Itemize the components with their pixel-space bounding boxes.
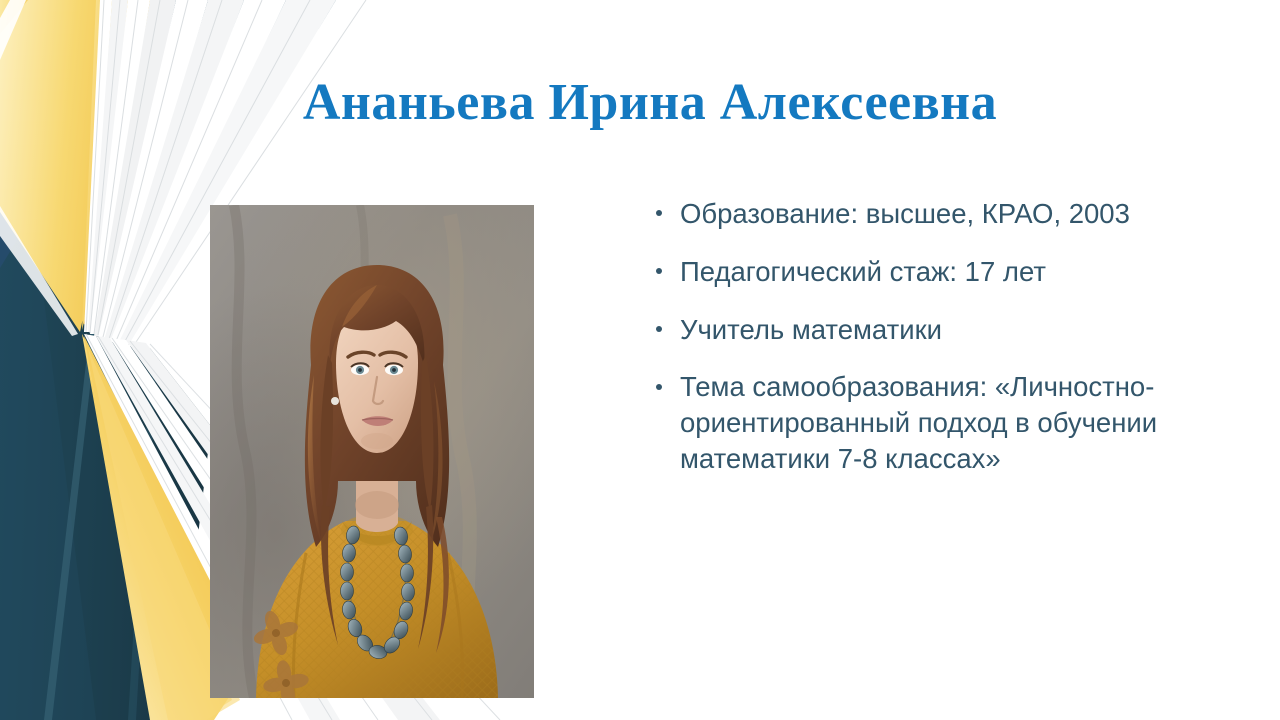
- list-item-text: Образование: высшее, КРАО, 2003: [680, 196, 1208, 232]
- list-item: Учитель математики: [648, 312, 1208, 348]
- list-item-text: Педагогический стаж: 17 лет: [680, 254, 1208, 290]
- bullet-dot-icon: [656, 384, 662, 390]
- deco-gold-wedge-bright: [0, 0, 150, 332]
- deco-navy-band: [0, 0, 140, 720]
- deco-white-sliver-1: [0, 0, 26, 60]
- deco-teal-highlight: [44, 160, 116, 720]
- deco-header-lines: [84, 0, 202, 58]
- slide-title: Ананьева Ирина Алексеевна: [120, 74, 1180, 132]
- bullet-dot-icon: [656, 268, 662, 274]
- deco-gold-wedge-main: [0, 0, 88, 330]
- list-item-text: Учитель математики: [680, 312, 1208, 348]
- profile-bullet-list: Образование: высшее, КРАО, 2003 Педагоги…: [648, 196, 1208, 477]
- list-item: Педагогический стаж: 17 лет: [648, 254, 1208, 290]
- list-item-text: Тема самообразования: «Личностно-ориенти…: [680, 369, 1208, 476]
- list-item: Образование: высшее, КРАО, 2003: [648, 196, 1208, 232]
- deco-white-sliver-2: [0, 206, 78, 336]
- presentation-slide: Ананьева Ирина Алексеевна: [0, 0, 1280, 720]
- deco-gold-wedge-deep: [82, 0, 168, 330]
- deco-blue-header-triangle: [60, 0, 470, 62]
- list-item: Тема самообразования: «Личностно-ориенти…: [648, 369, 1208, 476]
- bullet-dot-icon: [656, 210, 662, 216]
- bullet-dot-icon: [656, 326, 662, 332]
- portrait-photo: [210, 205, 534, 698]
